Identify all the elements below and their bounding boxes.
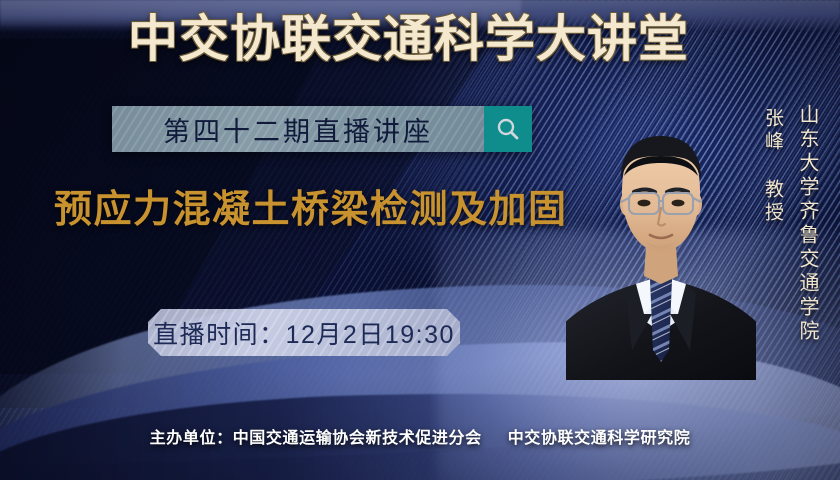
speaker-organization: 山东大学齐鲁交通学院	[793, 104, 822, 344]
search-icon	[495, 116, 521, 142]
speaker-name-title: 张峰 教授	[759, 108, 786, 225]
footer-organizer-1: 中国交通运输协会新技术促进分会	[233, 430, 482, 447]
search-button[interactable]	[484, 106, 532, 152]
episode-banner: 第四十二期直播讲座	[112, 106, 532, 152]
broadcast-time-badge: 直播时间：12月2日19:30	[148, 309, 460, 356]
promotional-banner: 中交协联交通科学大讲堂 第四十二期直播讲座 预应力混凝土桥梁检测及加固 直播时间…	[0, 0, 840, 480]
footer-organizers: 主办单位：中国交通运输协会新技术促进分会中交协联交通科学研究院	[0, 424, 840, 448]
page-title: 中交协联交通科学大讲堂	[128, 14, 689, 64]
broadcast-time-label: 直播时间：12月2日19:30	[153, 315, 455, 351]
episode-label: 第四十二期直播讲座	[163, 110, 433, 149]
speaker-photo	[566, 118, 756, 380]
episode-label-container: 第四十二期直播讲座	[112, 106, 484, 152]
footer-organizer-2: 中交协联交通科学研究院	[508, 430, 691, 447]
footer-prefix: 主办单位：	[150, 430, 233, 447]
lecture-topic: 预应力混凝土桥梁检测及加固	[54, 191, 568, 229]
